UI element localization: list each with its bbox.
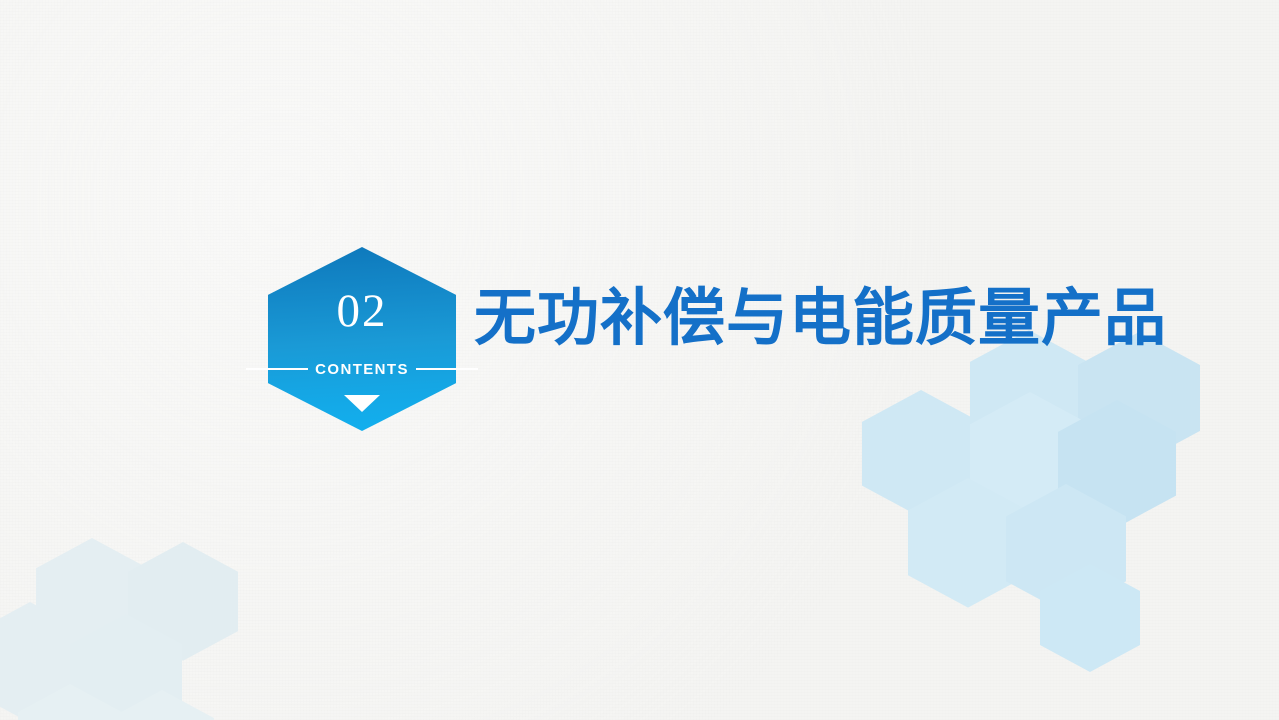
contents-rule-left — [246, 368, 308, 370]
section-number-badge: 02 CONTENTS — [268, 247, 456, 431]
page-title: 无功补偿与电能质量产品 — [474, 288, 1167, 350]
contents-rule-right — [416, 368, 478, 370]
section-number: 02 — [268, 288, 456, 335]
contents-label: CONTENTS — [308, 362, 416, 377]
contents-label-row: CONTENTS — [246, 360, 478, 378]
presentation-slide: 02 CONTENTS 无功补偿与电能质量产品 — [0, 0, 1279, 720]
triangle-down-icon — [344, 395, 380, 412]
